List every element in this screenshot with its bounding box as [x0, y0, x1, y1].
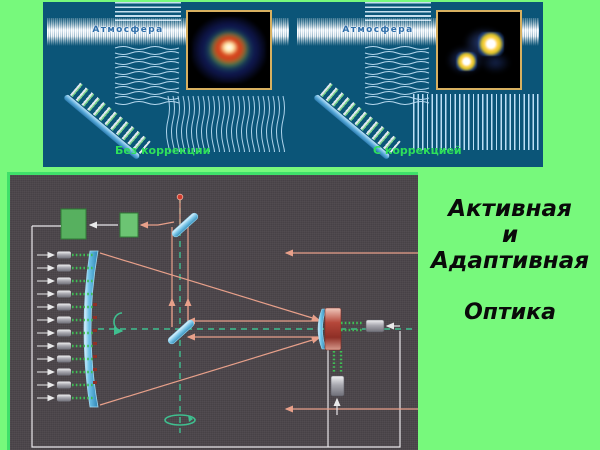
- focus-actuator: [331, 376, 344, 396]
- comparison-panel: Атмосфера: [43, 2, 543, 167]
- fold-mirror-lower: [167, 319, 195, 346]
- outgoing-flat-wavefronts-icon: [413, 94, 541, 150]
- secondary-tip-tilt-actuator: [366, 320, 384, 332]
- optical-axis: [98, 197, 415, 433]
- adaptive-optics-system-diagram: [7, 172, 418, 450]
- slide-canvas: Атмосфера: [0, 0, 600, 450]
- star-image-corrected: [436, 10, 522, 90]
- light-beams: [100, 197, 418, 409]
- title-line-1: Активная: [424, 196, 596, 222]
- wavefront-sensor-box: [120, 213, 138, 237]
- optical-layout-svg: [10, 175, 418, 450]
- star-image-uncorrected: [186, 10, 272, 90]
- slide-title: Активная и Адаптивная Оптика: [424, 196, 596, 326]
- caption-corrected: С коррекцией: [373, 144, 462, 157]
- rotation-arrow-horizontal: [114, 313, 122, 331]
- panel-uncorrected: Атмосфера: [43, 2, 293, 167]
- title-line-4: Оптика: [424, 300, 596, 326]
- secondary-mirror: [318, 308, 341, 350]
- source-point: [177, 194, 183, 200]
- control-electronics-box: [61, 209, 86, 239]
- panel-corrected: Атмосфера: [293, 2, 543, 167]
- caption-uncorrected: Без коррекции: [115, 144, 210, 157]
- title-line-2: и: [424, 222, 596, 248]
- fold-mirror-upper: [171, 212, 199, 239]
- title-line-3: Адаптивная: [424, 248, 596, 274]
